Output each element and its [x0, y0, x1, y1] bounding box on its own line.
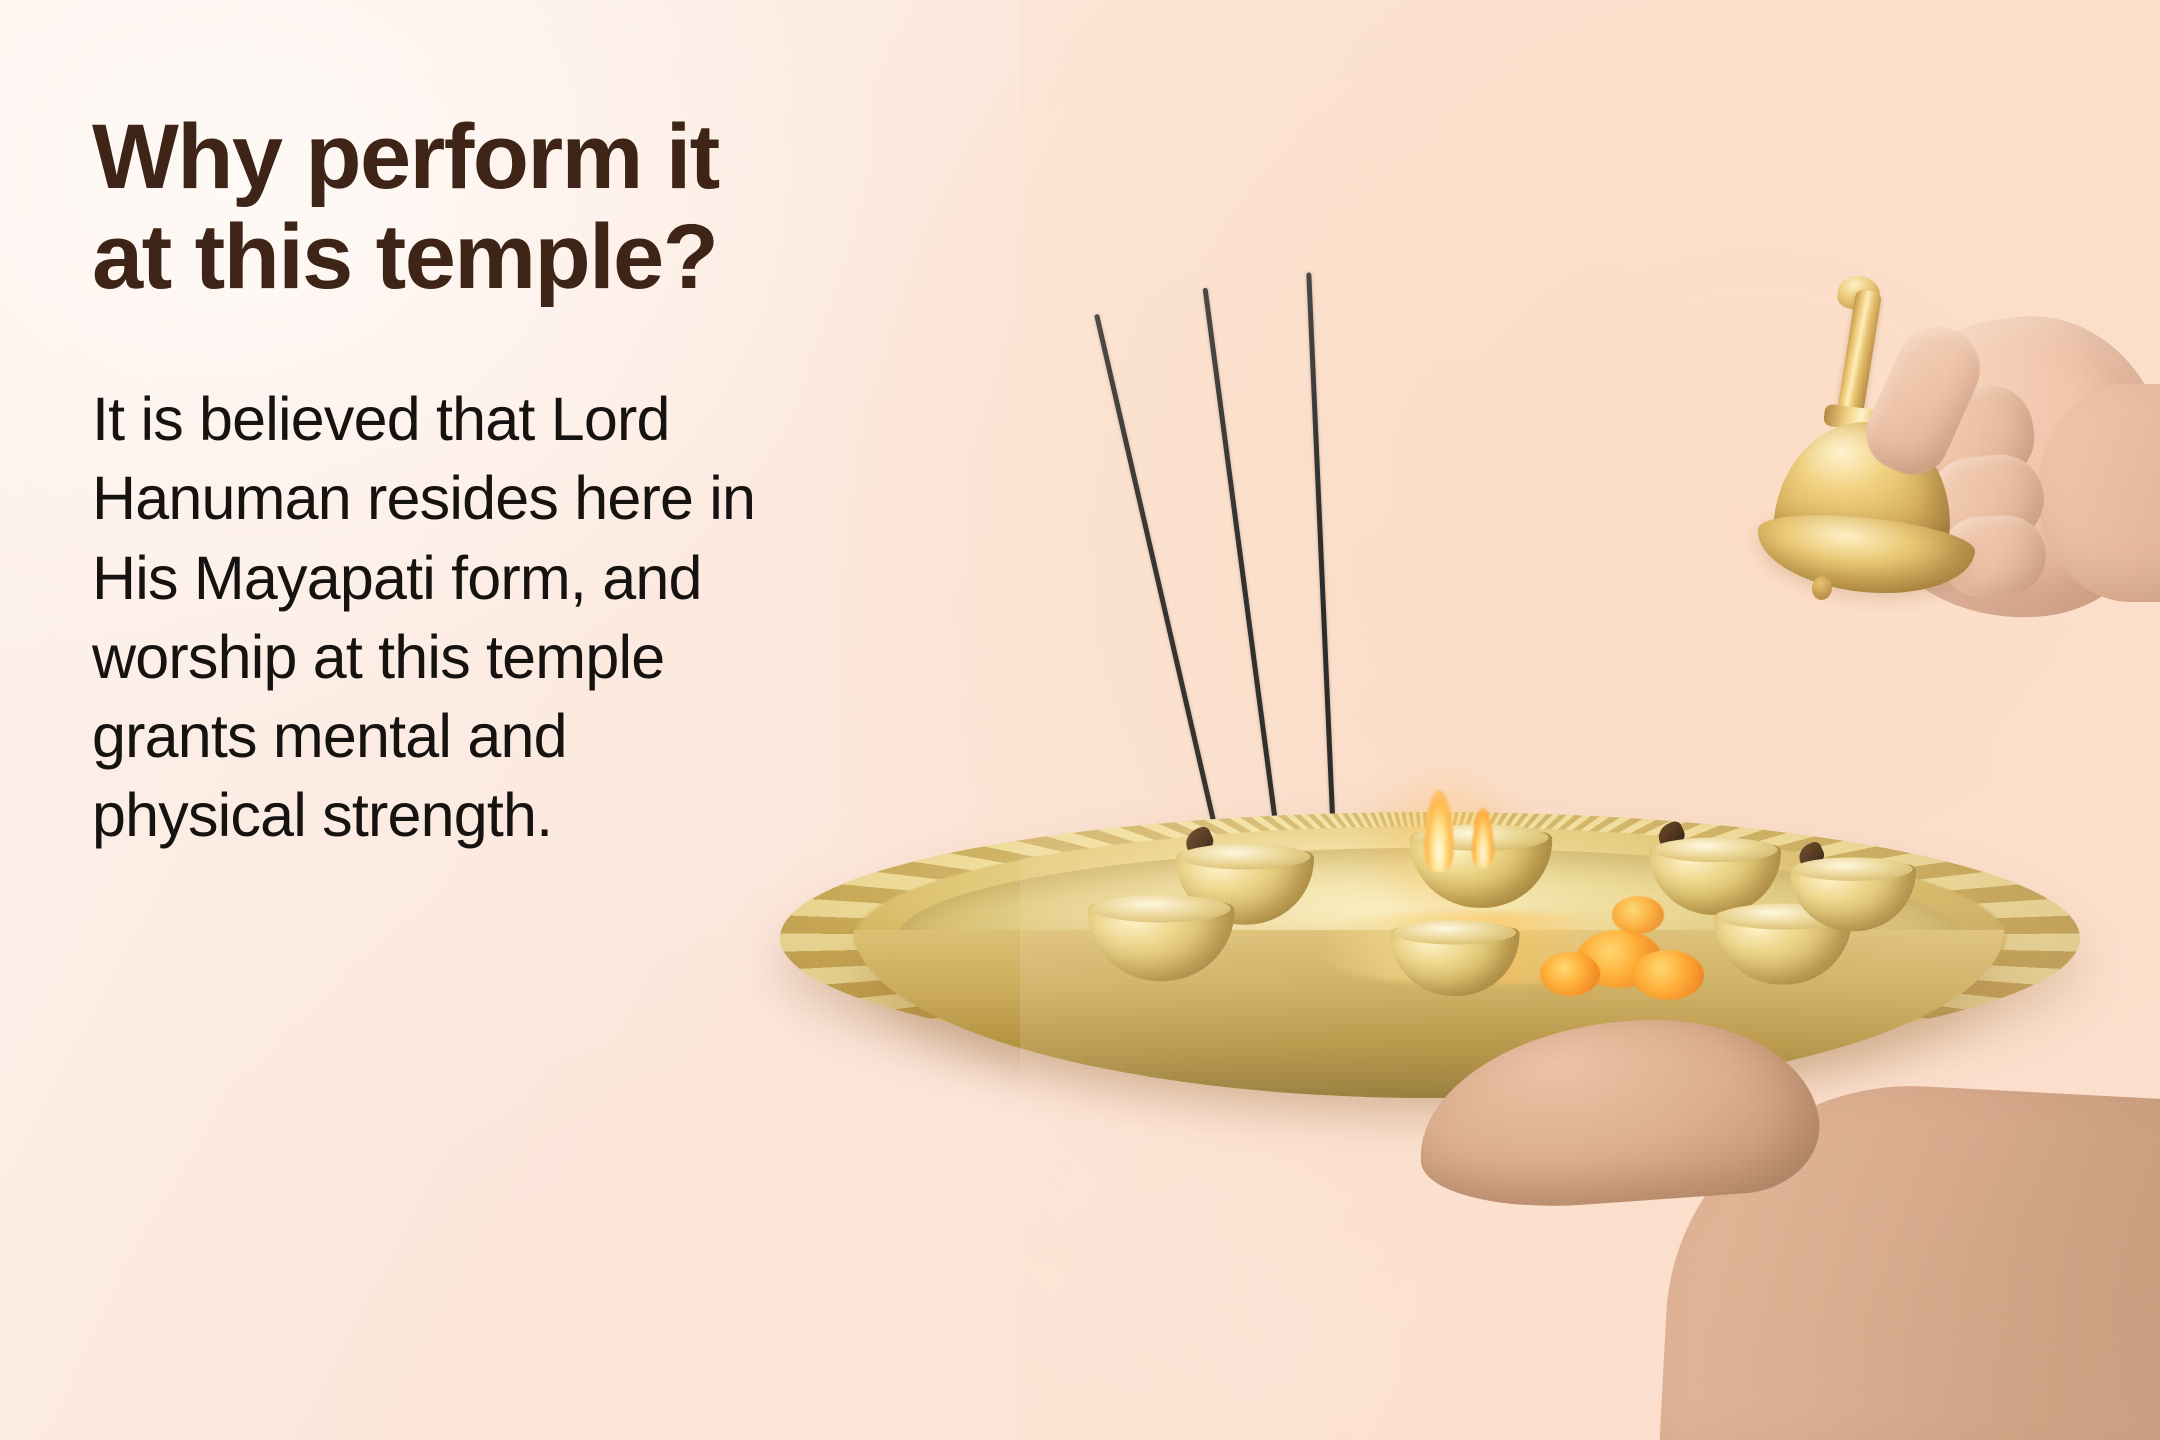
hand-holding-thali [1418, 1022, 2160, 1440]
diya-cup [1790, 856, 1916, 937]
page-title: Why perform it at this temple? [92, 108, 992, 308]
marigold-flower [1612, 896, 1664, 934]
diya-rim [1653, 838, 1778, 863]
marigold-flower [1540, 952, 1600, 996]
diya-cup [1391, 919, 1520, 1002]
diya-rim [1394, 920, 1516, 944]
diya-rim [1793, 857, 1912, 881]
incense-stick-icon [1203, 288, 1283, 862]
incense-stick-icon [1094, 314, 1225, 861]
bell-handle-icon [1836, 289, 1882, 423]
diya-rim [1091, 895, 1230, 922]
text-column: Why perform it at this temple? It is bel… [92, 108, 992, 308]
diya-rim [1180, 844, 1311, 870]
incense-stick-icon [1306, 272, 1337, 862]
marigold-flower [1632, 950, 1704, 1000]
body-paragraph: It is believed that Lord Hanuman resides… [92, 380, 792, 856]
slide-canvas: Why perform it at this temple? It is bel… [0, 0, 2160, 1440]
palm-shape [1412, 1008, 1824, 1215]
puja-photo [1020, 0, 2160, 1440]
hand-holding-bell [1700, 272, 2160, 742]
diya-cup [1088, 893, 1235, 987]
